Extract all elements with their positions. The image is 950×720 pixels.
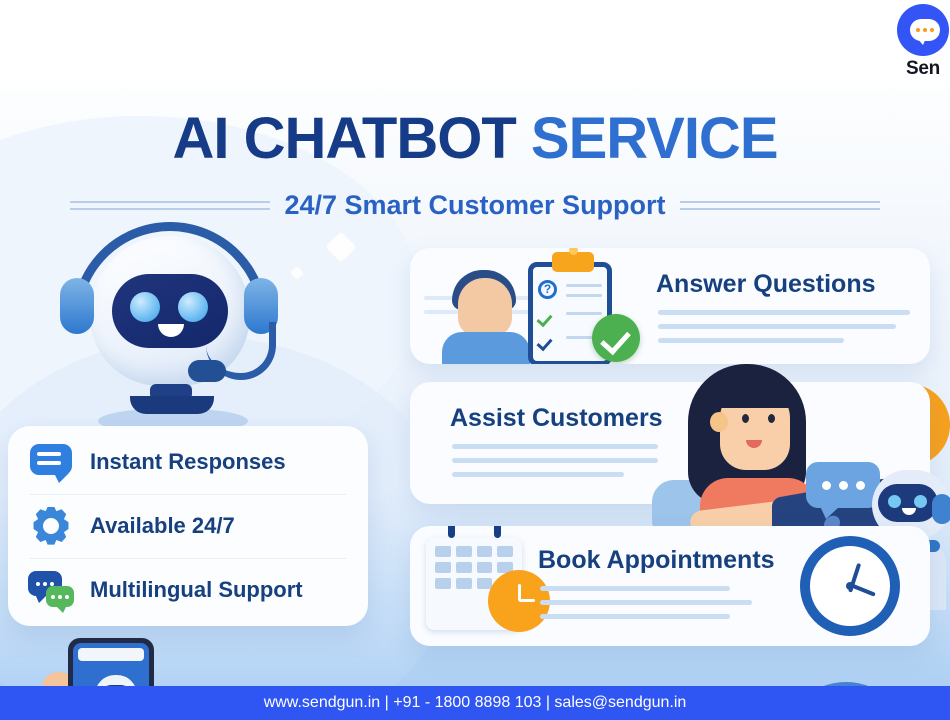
feature-label: Available 24/7 [90, 513, 235, 539]
multi-chat-bubbles-icon [28, 569, 74, 611]
brand-logo-text: Sen [880, 58, 950, 80]
title-part-two: SERVICE [531, 106, 778, 171]
placeholder-lines [540, 586, 752, 619]
page-subtitle: 24/7 Smart Customer Support [284, 190, 665, 221]
feature-label: Multilingual Support [90, 577, 303, 603]
robot-smile [158, 324, 184, 337]
footer-contact-bar: www.sendgun.in | +91 - 1800 8898 103 | s… [0, 686, 950, 720]
feature-row-multilingual-support[interactable]: Multilingual Support [8, 558, 368, 622]
check-icon [538, 330, 556, 348]
page-title: AI CHATBOT SERVICE [0, 110, 950, 168]
card-answer-questions[interactable]: ? Answer Questions [410, 248, 930, 364]
robot-base [130, 396, 214, 414]
robot-microphone [188, 360, 226, 382]
avatar [458, 278, 512, 336]
subtitle-rule-right [680, 201, 880, 210]
title-part-one: AI CHATBOT [172, 106, 515, 171]
footer-contact-text[interactable]: www.sendgun.in | +91 - 1800 8898 103 | s… [264, 694, 687, 712]
subtitle-rule-left [70, 201, 270, 210]
question-icon: ? [538, 280, 557, 299]
subtitle-row: 24/7 Smart Customer Support [0, 190, 950, 221]
chatbot-robot-mascot [38, 226, 298, 426]
placeholder-lines [658, 310, 910, 343]
robot-headset-band [72, 222, 268, 322]
top-white-bar: Sen [0, 0, 950, 86]
feature-row-instant-responses[interactable]: Instant Responses [8, 430, 368, 494]
feature-label: Instant Responses [90, 449, 286, 475]
brand-logo[interactable]: Sen [880, 4, 950, 80]
card-book-appointments[interactable]: Book Appointments [410, 526, 930, 646]
chat-bubble-logo-icon [897, 4, 949, 56]
placeholder-lines [452, 444, 658, 477]
wall-clock-icon [800, 536, 900, 636]
infographic-canvas: AI CHATBOT SERVICE 24/7 Smart Customer S… [0, 86, 950, 720]
woman-with-laptop-illustration [660, 360, 890, 540]
card-title: Answer Questions [656, 270, 876, 299]
green-check-badge-icon [592, 314, 640, 362]
card-title: Assist Customers [450, 404, 663, 433]
features-card: Instant Responses Available 24/7 Multili… [8, 426, 368, 626]
typing-bubble-icon [806, 462, 880, 508]
check-icon [538, 306, 556, 324]
robot-earcup-left [60, 278, 94, 334]
infographic-page: Sen AI CHATBOT SERVICE 24/7 Smart Custom… [0, 0, 950, 720]
card-title: Book Appointments [538, 546, 775, 575]
chat-bubble-lines-icon [28, 441, 74, 483]
feature-row-available-247[interactable]: Available 24/7 [8, 494, 368, 558]
gear-icon [28, 505, 74, 547]
